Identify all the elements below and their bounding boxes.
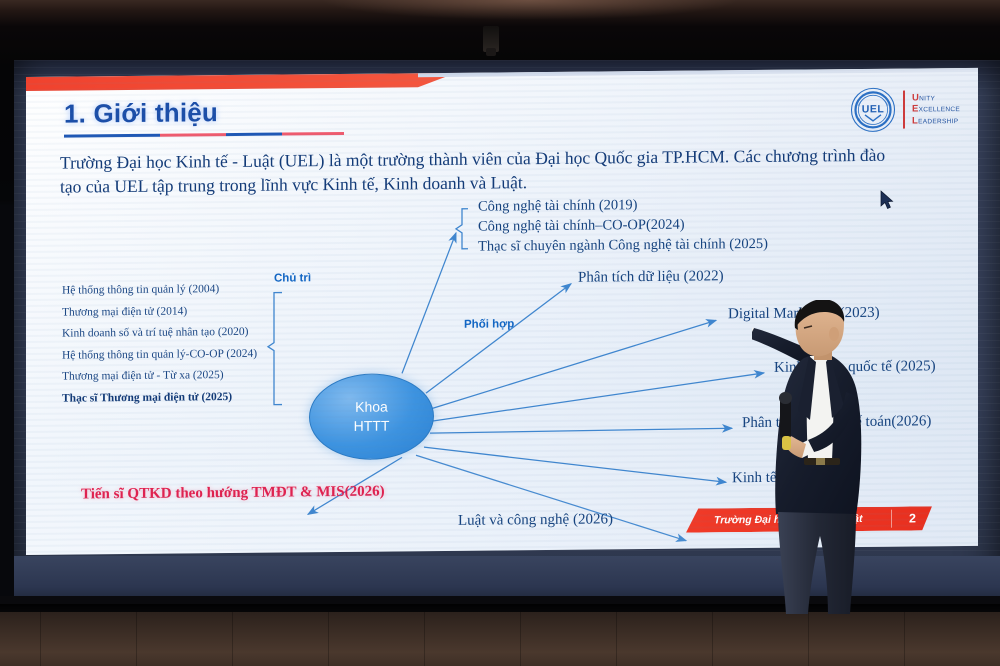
ceiling-light-fixture (483, 26, 499, 52)
bottom-highlight-text: Tiến sĩ QTKD theo hướng TMĐT & MIS(2026) (81, 484, 385, 504)
right-branch-luat-va-cong-nghe: Luật và công nghệ (2026) (458, 511, 613, 529)
logo-motto-line-3: LEADERSHIP (912, 116, 960, 126)
stage-scene: 1. Giới thiệu Trường Đại học Kinh tế - L… (0, 0, 1000, 666)
right-branch-phan-tich-du-lieu: Phân tích dữ liệu (2022) (578, 268, 724, 286)
top-cluster-0: Công nghệ tài chính (2019) (478, 197, 637, 216)
left-program-1: Thương mại điện tử (2014) (62, 300, 278, 324)
branch-label-chu-tri: Chủ trì (274, 272, 311, 284)
center-node-line2: HTTT (354, 417, 390, 436)
title-rule-4 (282, 132, 344, 136)
left-program-3: Hệ thống thông tin quản lý-CO-OP (2024) (62, 343, 278, 367)
title-rule-2 (160, 133, 226, 137)
title-rule-3 (226, 133, 282, 137)
ceiling-light-glow (320, 0, 740, 20)
stage-floor (0, 612, 1000, 666)
left-program-4: Thương mại điện tử - Từ xa (2025) (62, 365, 278, 389)
left-program-2: Kinh doanh số và trí tuệ nhân tạo (2020) (62, 322, 278, 346)
presenter (752, 300, 932, 615)
svg-text:UEL: UEL (862, 103, 885, 115)
center-node-line1: Khoa (355, 398, 388, 417)
left-program-list: Hệ thống thông tin quản lý (2004) Thương… (62, 279, 278, 410)
slide-top-red-banner (26, 73, 418, 91)
left-program-5: Thạc sĩ Thương mại điện tử (2025) (62, 386, 278, 410)
uel-seal-icon: UEL (850, 87, 896, 133)
branch-label-phoi-hop: Phối hợp (464, 318, 514, 330)
logo-divider (903, 91, 905, 129)
slide-paragraph: Trường Đại học Kinh tế - Luật (UEL) là m… (60, 143, 890, 199)
uel-logo: UEL UNITY EXCELLENCE LEADERSHIP (850, 86, 960, 133)
diagram-center-node: Khoa HTTT (309, 373, 434, 460)
logo-motto-line-2: EXCELLENCE (912, 104, 960, 114)
logo-motto-line-1: UNITY (912, 93, 960, 103)
logo-motto: UNITY EXCELLENCE LEADERSHIP (912, 93, 960, 126)
left-program-0: Hệ thống thông tin quản lý (2004) (62, 279, 278, 303)
slide-title: 1. Giới thiệu (64, 97, 218, 129)
title-rule-1 (64, 134, 160, 138)
top-cluster-2: Thạc sĩ chuyên ngành Công nghệ tài chính… (478, 236, 768, 256)
top-cluster-1: Công nghệ tài chính–CO-OP(2024) (478, 217, 685, 236)
mouse-cursor (880, 190, 894, 215)
